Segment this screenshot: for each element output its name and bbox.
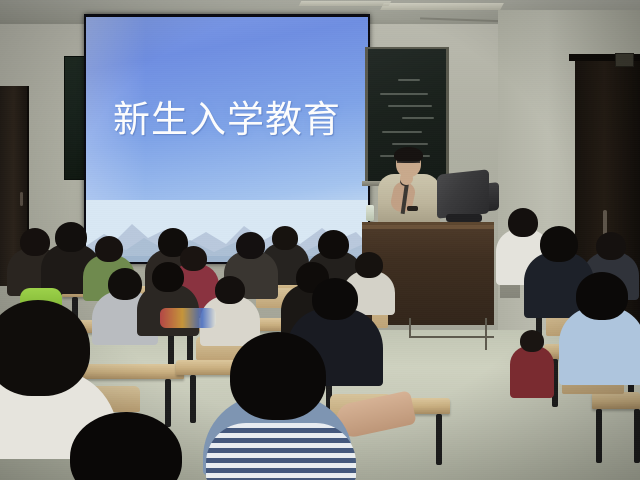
desk-bag bbox=[160, 308, 216, 328]
power-cable bbox=[409, 336, 494, 338]
desk-leg bbox=[190, 375, 196, 423]
audience-head bbox=[312, 278, 358, 320]
audience-head bbox=[272, 226, 298, 250]
desk-leg bbox=[596, 409, 602, 463]
water-bottle bbox=[366, 205, 374, 221]
audience-head bbox=[152, 262, 184, 292]
projection-screen: 新生入学教育 bbox=[86, 17, 368, 262]
slide-title: 新生入学教育 bbox=[86, 89, 368, 143]
audience-head bbox=[215, 276, 245, 304]
wristwatch bbox=[407, 206, 418, 211]
audience-head bbox=[108, 268, 142, 300]
audience-head bbox=[95, 236, 123, 262]
audience-head bbox=[230, 332, 326, 420]
audience-head bbox=[318, 230, 349, 259]
wall-sign bbox=[615, 53, 634, 67]
desk-leg bbox=[436, 414, 442, 465]
audience-torso bbox=[510, 346, 554, 398]
desk-leg bbox=[634, 409, 640, 463]
glasses-icon bbox=[397, 161, 420, 168]
audience-head bbox=[20, 228, 50, 256]
audience-head bbox=[596, 232, 626, 260]
door-handle-icon bbox=[20, 192, 23, 206]
monitor-base bbox=[446, 214, 482, 222]
presenter-hand bbox=[400, 172, 413, 185]
audience-head bbox=[540, 226, 578, 262]
classroom-photo: 新生入学教育 bbox=[0, 0, 640, 480]
audience-head bbox=[520, 330, 544, 352]
power-cable bbox=[409, 318, 411, 338]
audience-head bbox=[55, 222, 87, 252]
ceiling-light-fixture bbox=[380, 3, 504, 10]
audience-head bbox=[180, 246, 207, 271]
monitor-body bbox=[437, 169, 489, 218]
audience-head bbox=[508, 208, 538, 237]
audience-head bbox=[355, 252, 383, 278]
ceiling-light-fixture-secondary bbox=[299, 1, 392, 6]
desk-leg bbox=[165, 379, 171, 427]
desk bbox=[592, 392, 640, 409]
striped-shirt-pattern bbox=[206, 423, 356, 480]
power-cable bbox=[485, 318, 487, 350]
audience-head bbox=[236, 232, 265, 259]
crt-monitor bbox=[437, 172, 499, 224]
projection-screen-frame: 新生入学教育 bbox=[84, 14, 370, 264]
podium-top-edge bbox=[362, 225, 494, 229]
audience-head bbox=[576, 272, 628, 320]
presenter bbox=[378, 150, 440, 226]
